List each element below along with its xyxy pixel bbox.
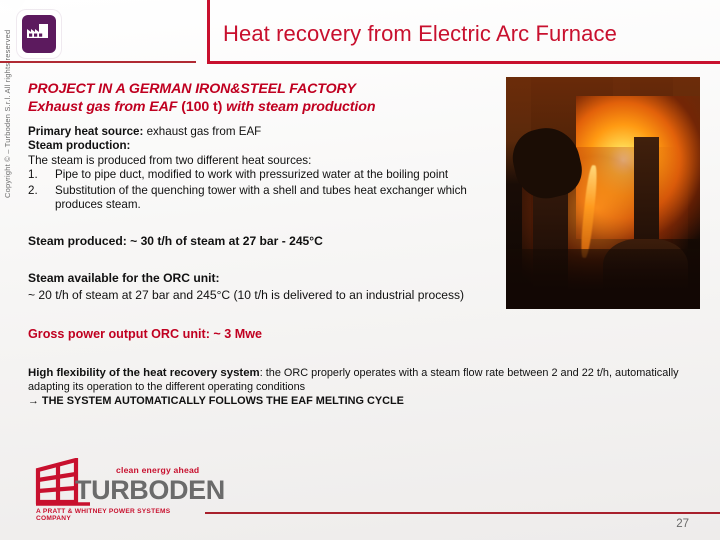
list-item-text: Substitution of the quenching tower with… [55,184,498,213]
slide-body: PROJECT IN A GERMAN IRON&STEEL FACTORY E… [28,80,700,408]
steam-production-label-text: Steam production: [28,139,130,152]
primary-heat-source-line: Primary heat source: exhaust gas from EA… [28,125,498,139]
list-item-number: 2. [28,184,55,213]
list-item-text: Pipe to pipe duct, modified to work with… [55,168,498,182]
steam-produced-statement: Steam produced: ~ 30 t/h of steam at 27 … [28,234,700,249]
header-vertical-rule [207,0,210,62]
steam-production-label: Steam production: [28,139,498,153]
logo-wordmark: TURBODEN [75,475,225,506]
turboden-logo: clean energy ahead TURBODEN A PRATT & WH… [30,458,205,520]
list-item: 1. Pipe to pipe duct, modified to work w… [28,168,498,182]
conclusion-line: → THE SYSTEM AUTOMATICALLY FOLLOWS THE E… [28,394,700,408]
logo-tagline: clean energy ahead [116,465,199,475]
primary-heat-source-label: Primary heat source: [28,125,143,138]
list-item-number: 1. [28,168,55,182]
flexibility-label: High flexibility of the heat recovery sy… [28,367,260,379]
page-title: Heat recovery from Electric Arc Furnace [223,21,617,47]
heading-part-tonnage: (100 t) [181,99,222,115]
list-item: 2. Substitution of the quenching tower w… [28,184,498,213]
copyright-notice: Copyright © – Turboden S.r.l. All rights… [3,30,12,198]
project-heading-line1: PROJECT IN A GERMAN IRON&STEEL FACTORY [28,80,700,98]
primary-heat-source-value: exhaust gas from EAF [143,125,261,138]
factory-glyph [26,21,52,47]
slide: Heat recovery from Electric Arc Furnace … [0,0,720,540]
header-rule-left [0,61,196,63]
gross-power-output: Gross power output ORC unit: ~ 3 Mwe [28,327,700,342]
project-heading-line2: Exhaust gas from EAF (100 t) with steam … [28,98,700,116]
heading-part-a: Exhaust gas from EAF [28,99,177,115]
steam-available-label: Steam available for the ORC unit: [28,271,700,286]
heading-part-c: with steam production [226,99,375,115]
logo-subtitle: A PRATT & WHITNEY POWER SYSTEMS COMPANY [36,508,205,522]
header-rule-main [207,61,720,64]
factory-icon [17,10,61,58]
footer-rule [205,512,720,514]
heat-sources-list: 1. Pipe to pipe duct, modified to work w… [28,168,498,212]
steam-available-value: ~ 20 t/h of steam at 27 bar and 245°C (1… [28,288,700,303]
steam-intro-line: The steam is produced from two different… [28,154,498,168]
page-number: 27 [676,518,689,530]
flexibility-paragraph: High flexibility of the heat recovery sy… [28,367,688,394]
